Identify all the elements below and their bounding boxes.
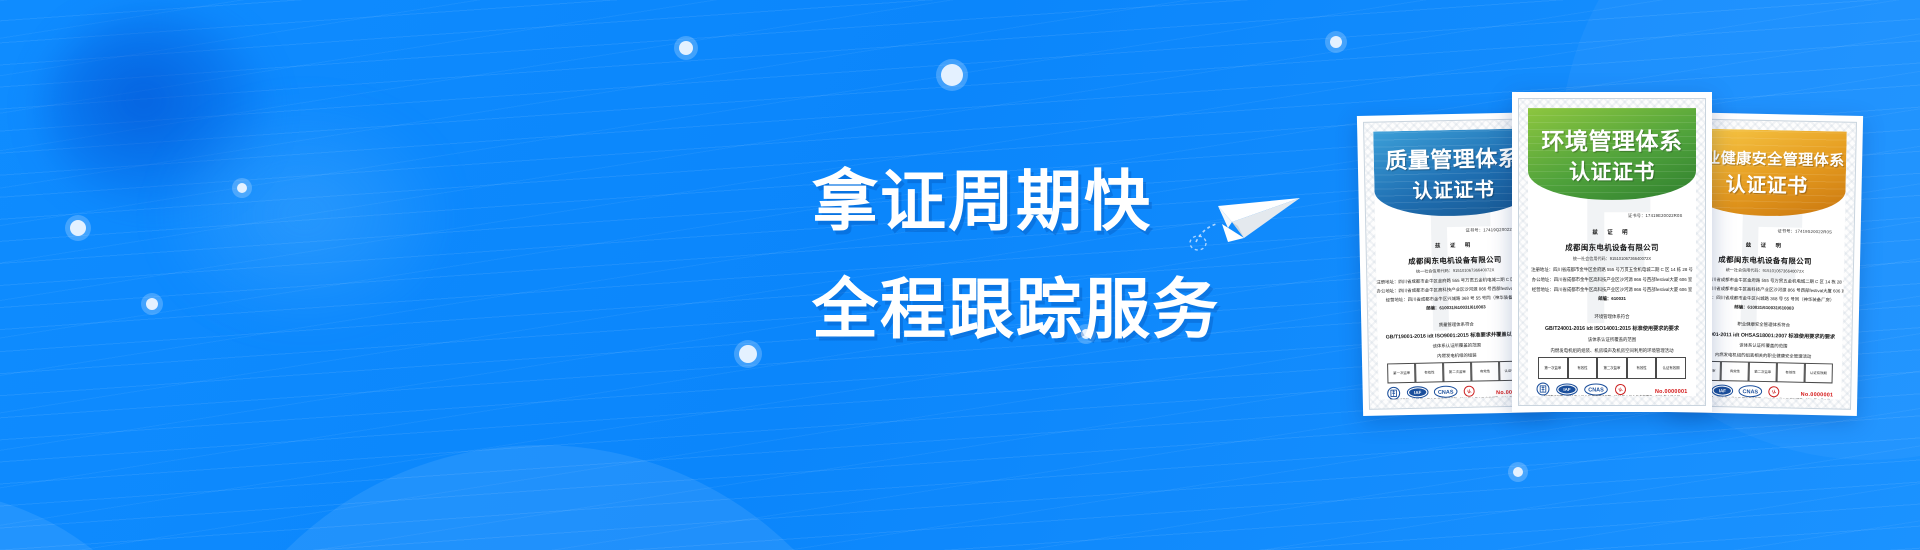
decorative-dot	[941, 64, 963, 86]
certificate-border: 环境管理体系 认证证书 证书号：17419E20022R0S 兹 证 明 成都闽…	[1518, 98, 1706, 406]
headline-line-2: 全程跟踪服务	[812, 276, 1332, 344]
decorative-dot	[146, 298, 158, 310]
certificate-title-line-1: 环境管理体系	[1542, 122, 1683, 156]
paper-plane-icon	[1188, 176, 1308, 256]
certificate-title-line-1: 职业健康安全管理体系	[1689, 146, 1844, 170]
certificate-audit-table: 第一次监审有效性第二次监审有效性认证有效期	[1538, 357, 1686, 379]
certificate-number: 证书号：17419E20022R0S	[1628, 213, 1683, 219]
audit-cell: 认证有效期	[1804, 363, 1832, 384]
certificate-proof-label: 兹 证 明	[1376, 240, 1534, 251]
certificate-title-line-2: 认证证书	[1412, 174, 1495, 205]
certificate-header: 环境管理体系 认证证书	[1528, 108, 1696, 200]
certificate-serial-number: No.0000001	[1655, 389, 1688, 395]
audit-cell: 有效性	[1415, 362, 1443, 383]
audit-cell: 有效性	[1471, 361, 1499, 382]
certificate-standard: GB/T24001-2016 idt ISO14001:2015 标准使用要求的…	[1528, 325, 1696, 332]
audit-cell: 有效性	[1568, 357, 1598, 379]
audit-cell: 第二次监审	[1749, 361, 1777, 382]
certificate-title-line-2: 认证证书	[1569, 156, 1655, 186]
certificate-scope: 内燃发电机组的组装、机房噪声及机房空间利用的环境管理活动	[1528, 348, 1696, 354]
certificate-title-line-1: 质量管理体系	[1385, 141, 1521, 176]
svg-text:IAF: IAF	[1718, 388, 1726, 393]
audit-cell: 有效性	[1627, 357, 1657, 379]
certificate-proof-label: 兹 证 明	[1528, 228, 1696, 236]
certificate-serial-number: No.0000001	[1801, 392, 1834, 399]
decorative-dot	[679, 41, 693, 55]
certificate-address-office: 办公地址：四川省成都市金牛区高科技产业区沙河源 866 号西部festival大…	[1377, 285, 1535, 294]
certificate-number: 证书号：17419S20022R0S	[1777, 228, 1832, 235]
audit-cell: 第二次监审	[1443, 361, 1471, 382]
certificate-company-name: 成都闽东电机设备有限公司	[1528, 242, 1696, 253]
audit-cell: 第一次监审	[1388, 363, 1416, 384]
svg-text:IAF: IAF	[1564, 387, 1571, 392]
certificate-audit-table: 第一次监审有效性第二次监审有效性认证有效期	[1693, 360, 1832, 383]
certificate-audit-table: 第一次监审有效性第二次监审有效性认证有效期	[1388, 360, 1527, 383]
audit-cell: 有效性	[1776, 362, 1804, 383]
decorative-dot	[1330, 36, 1342, 48]
audit-cell: 第二次监审	[1597, 357, 1627, 379]
audit-cell: 第一次监审	[1538, 357, 1568, 379]
decorative-dot	[739, 345, 757, 363]
certificate-company-name: 成都闽东电机设备有限公司	[1376, 253, 1534, 267]
svg-text:CNAS: CNAS	[1589, 387, 1605, 393]
certificate-header: 质量管理体系 认证证书	[1373, 128, 1533, 217]
svg-text:IAF: IAF	[1414, 390, 1422, 395]
certificate-credit-code: 统一社会信用代码：91510106736640072X	[1528, 256, 1696, 262]
svg-text:CNAS: CNAS	[1438, 390, 1454, 396]
hero-banner: 拿证周期快 全程跟踪服务 质量管理体系 认证证书 证书号：17419Q20022…	[0, 0, 1920, 550]
certificate-body: 环境管理体系 认证证书 证书号：17419E20022R0S 兹 证 明 成都闽…	[1528, 108, 1696, 396]
audit-cell: 认证有效期	[1656, 357, 1686, 379]
certificate-address-office: 办公地址：四川省成都市金牛区高科技产业区沙河源 866 号西部festival大…	[1528, 277, 1696, 283]
audit-cell: 有效性	[1721, 361, 1749, 382]
certificate-address-registered: 注册地址：四川省成都市金牛区金府路 555 号万贯五金机电城二期 C 区 14 …	[1376, 276, 1534, 285]
decorative-dot	[70, 220, 86, 236]
certificate-address-registered: 注册地址：四川省成都市金牛区金府路 555 号万贯五金机电城二期 C 区 14 …	[1528, 267, 1696, 273]
certificate-title-line-2: 认证证书	[1725, 168, 1808, 199]
certificate-environmental-management-system[interactable]: 环境管理体系 认证证书 证书号：17419E20022R0S 兹 证 明 成都闽…	[1512, 92, 1712, 412]
svg-text:CNAS: CNAS	[1743, 389, 1759, 395]
certificate-postcode: 邮编：610031	[1528, 296, 1696, 302]
background-light-glow	[175, 115, 435, 315]
certificate-group: 质量管理体系 认证证书 证书号：17419Q20022R0S 兹 证 明 成都闽…	[1360, 92, 1920, 492]
decorative-dot	[237, 183, 247, 193]
certificate-scope-label: 该体系认证所覆盖的范围	[1528, 337, 1696, 343]
certificate-address-operating: 经营地址：四川省成都市金牛区高科技产业区沙河源 866 号西部festival大…	[1528, 287, 1696, 293]
certificate-system-label: 环境管理体系符合	[1528, 314, 1696, 320]
